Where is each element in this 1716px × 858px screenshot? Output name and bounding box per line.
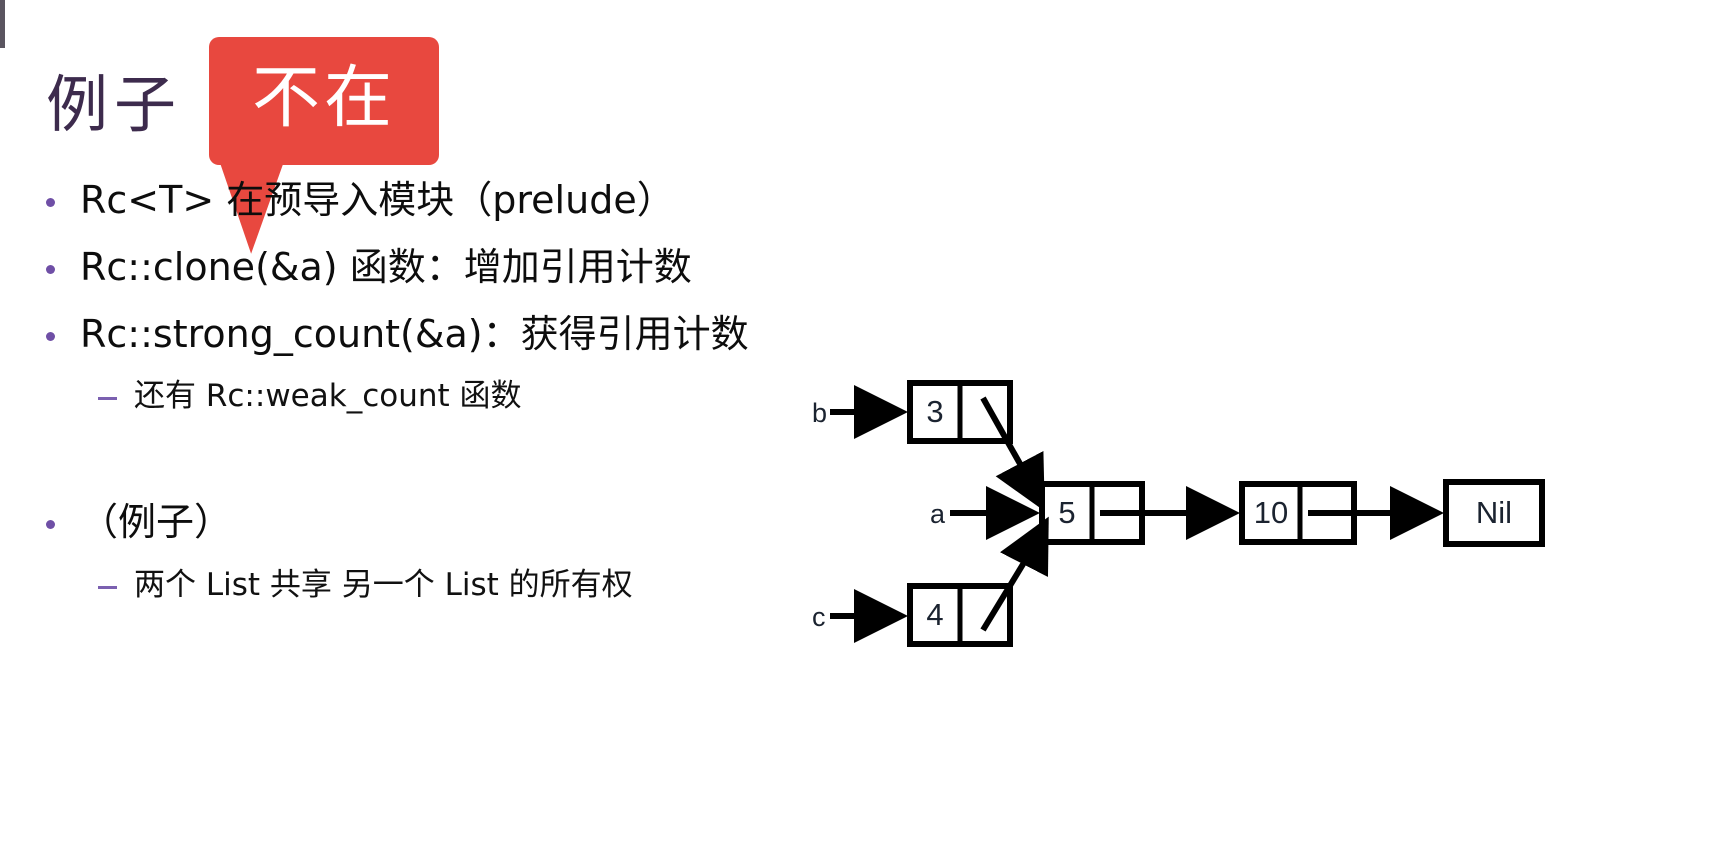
- linked-list-diagram: 3 b 5 a 4 c 10: [790, 360, 1710, 660]
- var-label-b: b: [812, 398, 827, 428]
- sub-bullet-text: 两个 List 共享 另一个 List 的所有权: [134, 567, 633, 604]
- bullet-text: Rc::clone(&a) 函数：增加引用计数: [80, 245, 692, 290]
- node-value: Nil: [1476, 495, 1512, 530]
- sub-list-item: 还有 Rc::weak_count 函数: [46, 378, 866, 415]
- node-4: 4: [910, 556, 1028, 644]
- node-value: 10: [1254, 495, 1288, 530]
- sub-bullet-text: 还有 Rc::weak_count 函数: [134, 378, 522, 415]
- bullet-text: Rc<T> 在预导入模块（prelude）: [80, 178, 675, 223]
- node-3: 3: [910, 383, 1028, 478]
- list-item: Rc<T> 在预导入模块（prelude）: [46, 178, 866, 223]
- sub-list-item: 两个 List 共享 另一个 List 的所有权: [46, 567, 866, 604]
- list-item: Rc::clone(&a) 函数：增加引用计数: [46, 245, 866, 290]
- bullet-dot-icon: [46, 312, 80, 341]
- node-nil: Nil: [1446, 482, 1542, 544]
- node-value: 5: [1058, 495, 1075, 530]
- bullet-dash-icon: [98, 567, 134, 589]
- page-title: 例子: [46, 74, 182, 136]
- bullet-list: Rc<T> 在预导入模块（prelude） Rc::clone(&a) 函数：增…: [46, 178, 866, 626]
- node-value: 3: [926, 394, 943, 429]
- list-item: （例子）: [46, 500, 866, 545]
- callout-bubble: 不在: [209, 37, 439, 165]
- var-label-c: c: [812, 602, 826, 632]
- bullet-text: Rc::strong_count(&a)：获得引用计数: [80, 312, 749, 357]
- left-edge-bar: [0, 0, 5, 48]
- list-item: Rc::strong_count(&a)：获得引用计数: [46, 312, 866, 357]
- var-label-a: a: [930, 499, 946, 529]
- bullet-dot-icon: [46, 245, 80, 274]
- bullet-dot-icon: [46, 500, 80, 529]
- bullet-text: （例子）: [80, 500, 232, 545]
- bullet-dot-icon: [46, 178, 80, 207]
- bullet-dash-icon: [98, 378, 134, 400]
- node-value: 4: [926, 597, 943, 632]
- callout-label: 不在: [252, 65, 396, 133]
- list-spacer: [46, 438, 866, 500]
- callout-body: 不在: [209, 37, 439, 165]
